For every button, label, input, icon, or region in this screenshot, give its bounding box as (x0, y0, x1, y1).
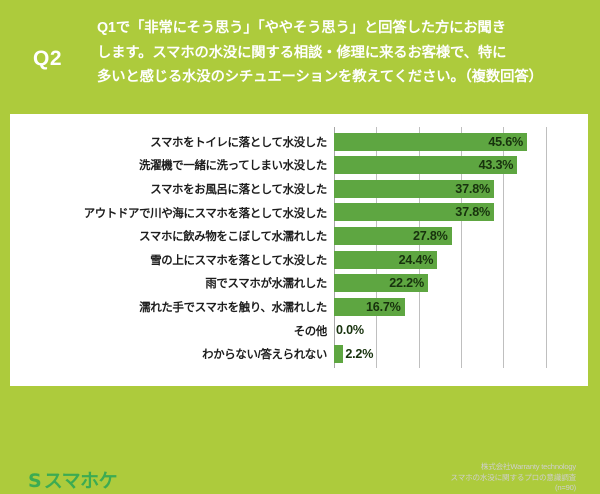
question-line-2: します。スマホの水没に関する相談・修理に来るお客様で、特に (97, 41, 591, 66)
chart-row: スマホをお風呂に落として水没した37.8% (10, 177, 588, 201)
bar-area: 16.7% (334, 295, 588, 319)
source-watermark: 株式会社Warranty technology スマホの水没に関するプロの意識調… (406, 462, 576, 494)
bar-value-label: 37.8% (455, 180, 494, 198)
category-label: その他 (10, 323, 334, 339)
chart-card: スマホをトイレに落として水没した45.6%洗濯機で一緒に洗ってしまい水没した43… (10, 114, 588, 386)
bar-chart: スマホをトイレに落として水没した45.6%洗濯機で一緒に洗ってしまい水没した43… (10, 130, 588, 368)
bar-track (334, 345, 343, 363)
brand-logo: S スマホケ (28, 472, 117, 491)
bar-value-label: 37.8% (455, 203, 494, 221)
category-label: 雪の上にスマホを落として水没した (10, 252, 334, 268)
category-label: 雨でスマホが水濡れした (10, 275, 334, 291)
bar-value-label: 16.7% (366, 298, 405, 316)
chart-row: その他0.0% (10, 319, 588, 343)
bar (334, 345, 343, 363)
bar-value-label: 43.3% (479, 156, 518, 174)
bar-area: 2.2% (334, 342, 588, 366)
chart-row: 雨でスマホが水濡れした22.2% (10, 272, 588, 296)
bar-value-label: 45.6% (488, 133, 527, 151)
question-text: Q1で「非常にそう思う」「ややそう思う」と回答した方にお聞き します。スマホの水… (97, 16, 591, 90)
category-label: スマホをトイレに落として水没した (10, 134, 334, 150)
category-label: アウトドアで川や海にスマホを落として水没した (10, 205, 334, 221)
bar-area: 0.0% (334, 319, 588, 343)
survey-slide: Q2 Q1で「非常にそう思う」「ややそう思う」と回答した方にお聞き します。スマ… (0, 0, 600, 400)
bar-area: 24.4% (334, 248, 588, 272)
bar-value-label: 24.4% (399, 251, 438, 269)
logo-s-icon: S (28, 472, 42, 491)
bar-value-label: 0.0% (334, 321, 364, 339)
watermark-line-3: (n=90) (406, 483, 576, 494)
bar-area: 37.8% (334, 177, 588, 201)
bar-value-label: 22.2% (389, 274, 428, 292)
category-label: 濡れた手でスマホを触り、水濡れした (10, 299, 334, 315)
category-label: スマホに飲み物をこぼして水濡れした (10, 228, 334, 244)
category-label: わからない/答えられない (10, 346, 334, 362)
chart-row: わからない/答えられない2.2% (10, 342, 588, 366)
chart-rows: スマホをトイレに落として水没した45.6%洗濯機で一緒に洗ってしまい水没した43… (10, 130, 588, 366)
watermark-line-1: 株式会社Warranty technology (406, 462, 576, 473)
question-line-1: Q1で「非常にそう思う」「ややそう思う」と回答した方にお聞き (97, 16, 591, 41)
bar-area: 43.3% (334, 154, 588, 178)
question-number: Q2 (33, 48, 62, 69)
chart-row: スマホをトイレに落として水没した45.6% (10, 130, 588, 154)
bar-area: 27.8% (334, 224, 588, 248)
logo-wordmark: スマホケ (44, 472, 117, 491)
category-label: 洗濯機で一緒に洗ってしまい水没した (10, 157, 334, 173)
bar-area: 45.6% (334, 130, 588, 154)
chart-row: スマホに飲み物をこぼして水濡れした27.8% (10, 224, 588, 248)
bar-area: 37.8% (334, 201, 588, 225)
question-line-3: 多いと感じる水没のシチュエーションを教えてください。（複数回答） (97, 65, 591, 90)
category-label: スマホをお風呂に落として水没した (10, 181, 334, 197)
chart-row: 洗濯機で一緒に洗ってしまい水没した43.3% (10, 154, 588, 178)
bar-area: 22.2% (334, 272, 588, 296)
watermark-line-2: スマホの水没に関するプロの意識調査 (406, 473, 576, 484)
chart-row: 雪の上にスマホを落として水没した24.4% (10, 248, 588, 272)
chart-row: アウトドアで川や海にスマホを落として水没した37.8% (10, 201, 588, 225)
bar-value-label: 2.2% (343, 345, 373, 363)
chart-row: 濡れた手でスマホを触り、水濡れした16.7% (10, 295, 588, 319)
question-header: Q2 Q1で「非常にそう思う」「ややそう思う」と回答した方にお聞き します。スマ… (0, 0, 600, 114)
bar-value-label: 27.8% (413, 227, 452, 245)
